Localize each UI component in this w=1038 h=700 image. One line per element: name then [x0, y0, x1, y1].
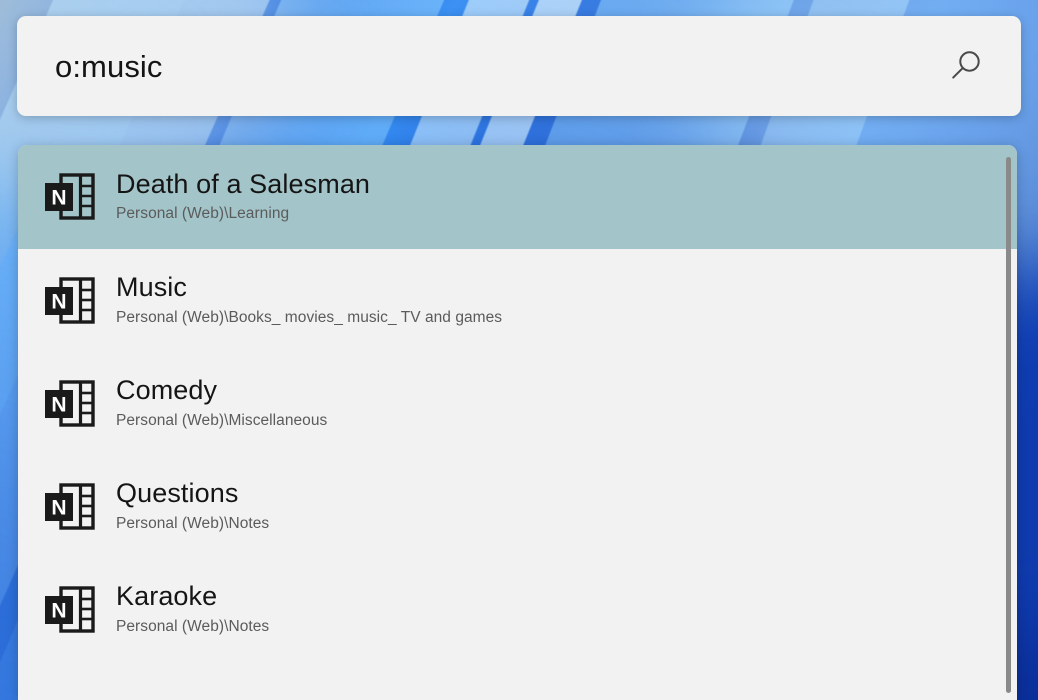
svg-text:N: N [51, 496, 66, 519]
result-subtitle: Personal (Web)\Learning [116, 204, 370, 225]
result-row[interactable]: N Music Personal (Web)\Books_ movies_ mu… [18, 249, 1017, 352]
result-row[interactable]: N Questions Personal (Web)\Notes [18, 455, 1017, 558]
search-results-panel: N Death of a Salesman Personal (Web)\Lea… [18, 145, 1017, 700]
result-title: Questions [116, 478, 269, 508]
result-row[interactable]: N Death of a Salesman Personal (Web)\Lea… [18, 145, 1017, 249]
scrollbar-thumb[interactable] [1006, 157, 1011, 693]
desktop-root: o:music N Death of [0, 0, 1038, 700]
onenote-icon: N [41, 582, 97, 638]
search-icon[interactable] [943, 44, 987, 88]
result-text: Karaoke Personal (Web)\Notes [116, 581, 269, 637]
result-text: Questions Personal (Web)\Notes [116, 478, 269, 534]
onenote-icon: N [41, 169, 97, 225]
result-row[interactable]: N Karaoke Personal (Web)\Notes [18, 558, 1017, 661]
result-title: Music [116, 272, 502, 302]
svg-text:N: N [51, 290, 66, 313]
result-title: Karaoke [116, 581, 269, 611]
result-text: Comedy Personal (Web)\Miscellaneous [116, 375, 327, 431]
result-subtitle: Personal (Web)\Notes [116, 514, 269, 535]
result-subtitle: Personal (Web)\Books_ movies_ music_ TV … [116, 308, 502, 329]
search-box[interactable]: o:music [17, 16, 1021, 116]
result-title: Comedy [116, 375, 327, 405]
result-subtitle: Personal (Web)\Notes [116, 617, 269, 638]
svg-text:N: N [51, 599, 66, 622]
onenote-icon: N [41, 376, 97, 432]
result-row[interactable]: N Comedy Personal (Web)\Miscellaneous [18, 352, 1017, 455]
onenote-icon: N [41, 479, 97, 535]
svg-text:N: N [51, 187, 66, 210]
result-title: Death of a Salesman [116, 169, 370, 199]
onenote-icon: N [41, 273, 97, 329]
vertical-scrollbar[interactable] [1000, 145, 1016, 700]
result-text: Music Personal (Web)\Books_ movies_ musi… [116, 272, 502, 328]
search-input[interactable]: o:music [55, 51, 943, 82]
result-text: Death of a Salesman Personal (Web)\Learn… [116, 169, 370, 225]
svg-text:N: N [51, 393, 66, 416]
result-subtitle: Personal (Web)\Miscellaneous [116, 411, 327, 432]
